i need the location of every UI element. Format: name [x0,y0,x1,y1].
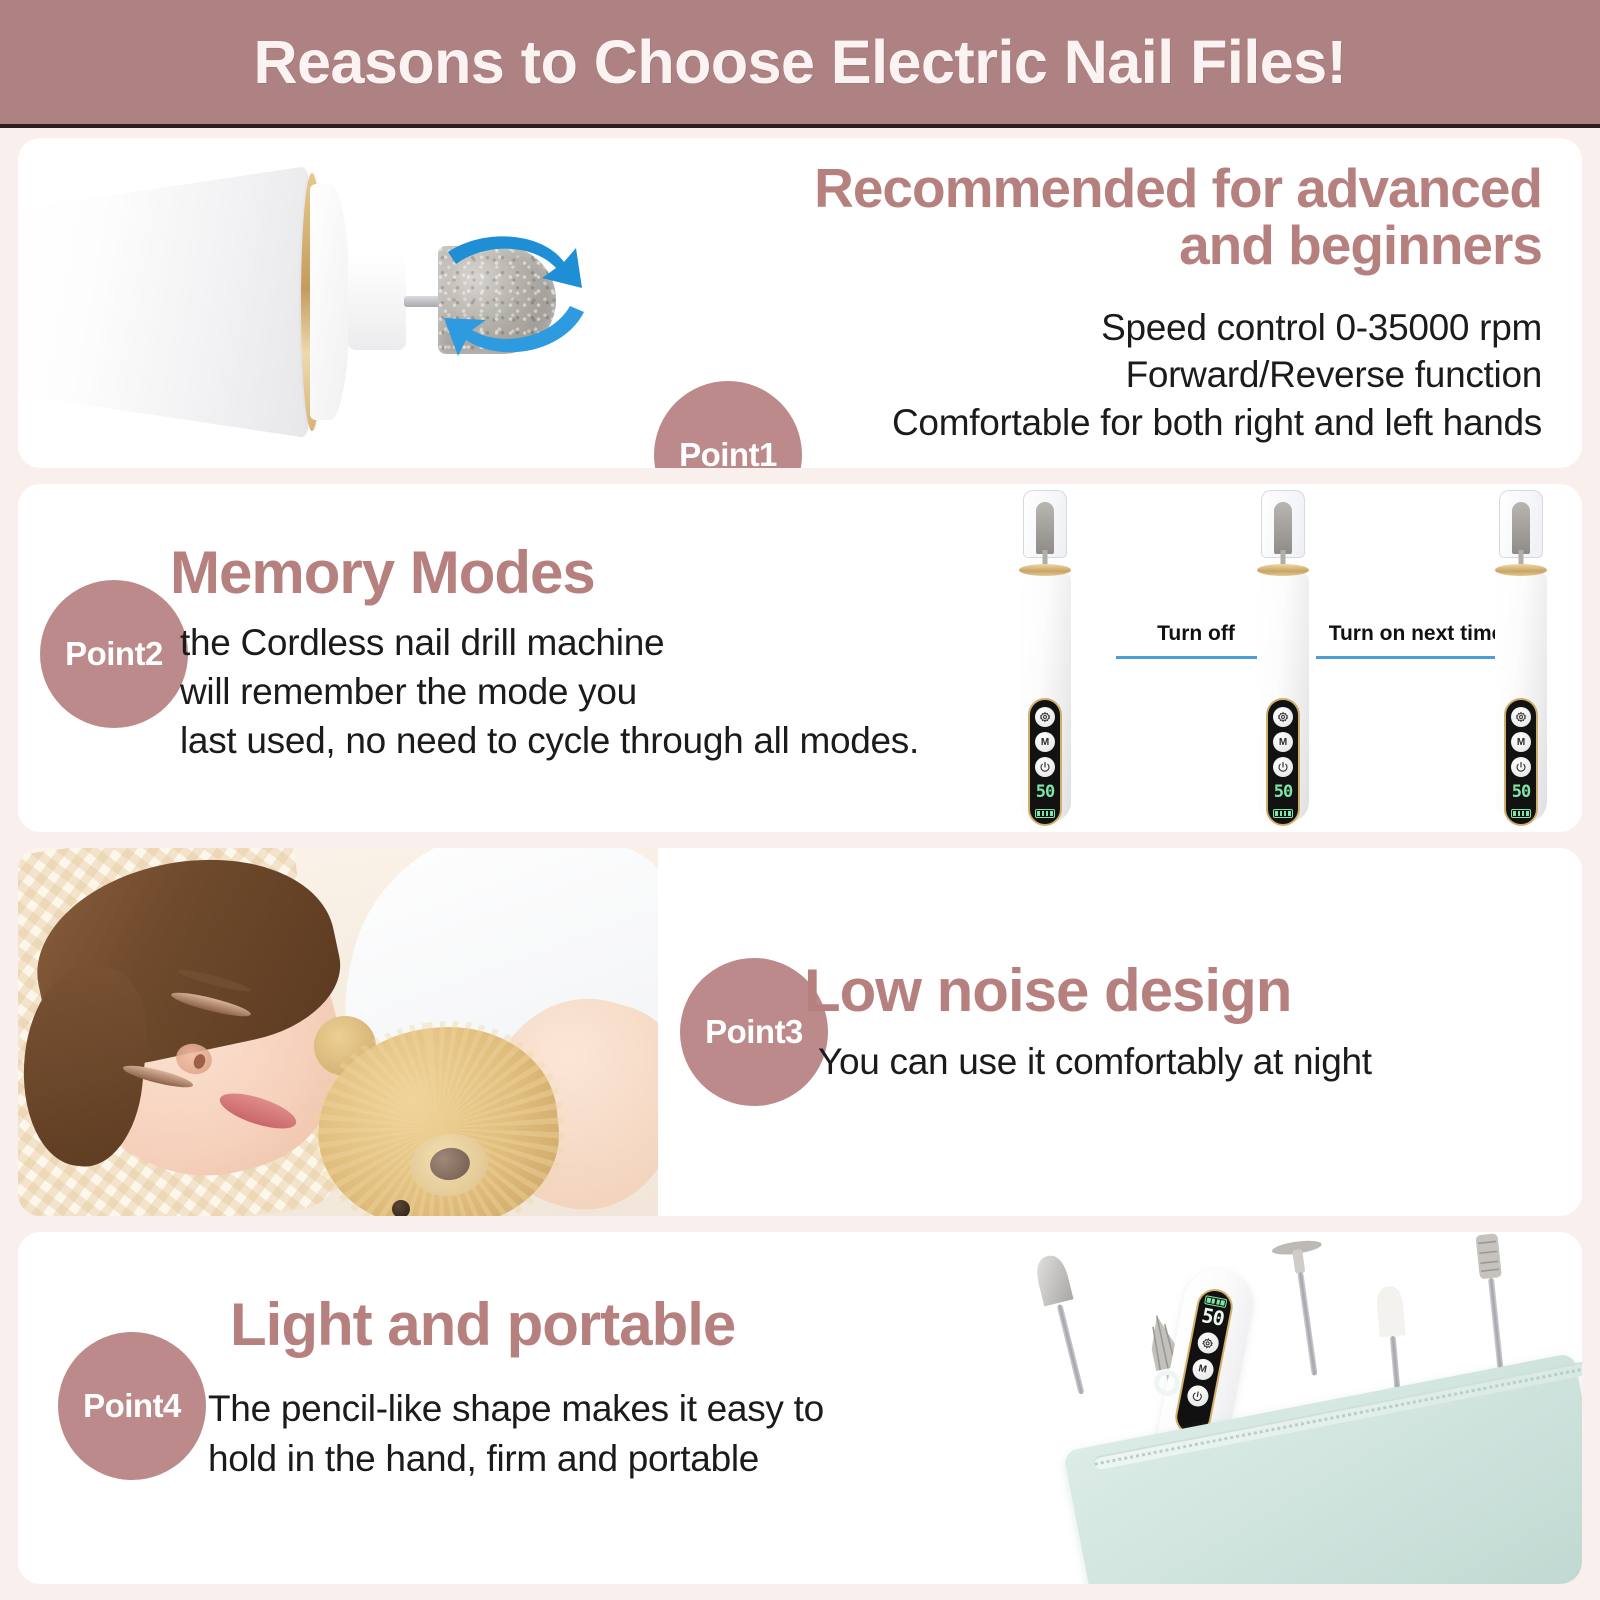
pen-body-shape [18,166,308,438]
bit-stem [1488,1278,1504,1378]
page-title: Reasons to Choose Electric Nail Files! [254,27,1347,97]
point-card-2: Point2 Memory Modes the Cordless nail dr… [18,484,1582,832]
bit-head [1027,1249,1079,1313]
body-line: will remember the mode you [180,667,1080,716]
mode-m-icon: M [1035,732,1055,752]
point-body-1: Speed control 0-35000 rpm Forward/Revers… [542,304,1542,446]
speed-gear-icon [1273,707,1293,727]
infographic-page: Reasons to Choose Electric Nail Files! P… [0,0,1600,1600]
headline-line-1: Low noise design [804,957,1291,1024]
body-line: hold in the hand, firm and portable [208,1434,1048,1484]
bit-head [1368,1283,1413,1344]
body-line: The pencil-like shape makes it easy to [208,1384,1048,1434]
headline-line-1: Light and portable [230,1291,735,1358]
gold-ring [1257,564,1309,576]
battery-icon [1035,809,1055,818]
control-panel: M 50 [1028,698,1062,826]
gold-ring [1019,564,1071,576]
drill-bit-disc-mandrel [1270,1235,1342,1391]
pen-device-3: M 50 [1466,490,1576,830]
body-line: Forward/Reverse function [542,351,1542,398]
speed-display: 50 [1274,784,1292,801]
point-card-1: Point1 Recommended for advanced and begi… [18,138,1582,468]
teddy-eye [392,1200,410,1216]
mode-label: M [1041,737,1049,748]
pen-collar [348,254,406,350]
flow-label: Turn off [1157,622,1235,646]
speed-gear-icon [1035,707,1055,727]
body-line: Comfortable for both right and left hand… [542,399,1542,446]
speed-gear-icon [1511,707,1531,727]
gold-ring [1495,564,1547,576]
speed-display: 50 [1200,1305,1226,1329]
body-line: Speed control 0-35000 rpm [542,304,1542,351]
mode-label: M [1517,737,1525,748]
point-body-4: The pencil-like shape makes it easy to h… [208,1384,1048,1484]
point-headline-4: Light and portable [230,1294,1050,1356]
headline-line-1: Recommended for advanced [552,160,1542,217]
mode-label: M [1279,737,1287,748]
point-badge-4: Point4 [58,1332,206,1480]
point-badge-label: Point2 [65,635,163,673]
point-card-4: Point4 Light and portable The pencil-lik… [18,1232,1582,1584]
sanding-bit [1036,502,1054,554]
speed-gear-icon [1195,1331,1220,1356]
point-badge-2: Point2 [40,580,188,728]
bit-stem [1297,1272,1317,1376]
battery-icon [1273,809,1293,818]
control-panel: M 50 [1266,698,1300,826]
speed-display: 50 [1512,784,1530,801]
power-icon [1273,757,1293,777]
battery-icon [1511,809,1531,818]
point-body-3: You can use it comfortably at night [818,1038,1578,1085]
mode-m-icon: M [1511,732,1531,752]
body-line: last used, no need to cycle through all … [180,716,1080,765]
point-badge-label: Point3 [705,1013,803,1051]
point-headline-2: Memory Modes [170,542,890,604]
mode-m-icon: M [1273,732,1293,752]
point-body-2: the Cordless nail drill machine will rem… [180,618,1080,766]
pen-device-1: M 50 [990,490,1100,830]
mode-label: M [1197,1363,1207,1375]
power-icon [1035,757,1055,777]
body-line: You can use it comfortably at night [818,1038,1578,1085]
point-badge-label: Point4 [83,1387,181,1425]
speed-display: 50 [1036,784,1054,801]
sanding-bit [1274,502,1292,554]
headline-line-2: and beginners [552,217,1542,274]
sleeping-child-photo [18,848,658,1216]
drill-bit-carbide-barrel [1464,1232,1523,1384]
headline-line-1: Memory Modes [170,539,595,606]
point-headline-3: Low noise design [804,960,1564,1022]
mode-m-icon: M [1190,1357,1215,1382]
drill-bit-sanding-cone [1025,1249,1106,1406]
point-card-3: Point3 Low noise design You can use it c… [18,848,1582,1216]
control-panel: M 50 [1504,698,1538,826]
point-headline-1: Recommended for advanced and beginners [552,160,1542,274]
sanding-bit [1512,502,1530,554]
pen-cap [310,184,350,420]
power-icon [1185,1384,1210,1409]
power-icon [1511,757,1531,777]
body-line: the Cordless nail drill machine [180,618,1080,667]
nail-drill-kit-illustration: 50 M [982,1232,1582,1584]
bit-stem [1057,1304,1085,1395]
page-header: Reasons to Choose Electric Nail Files! [0,0,1600,128]
